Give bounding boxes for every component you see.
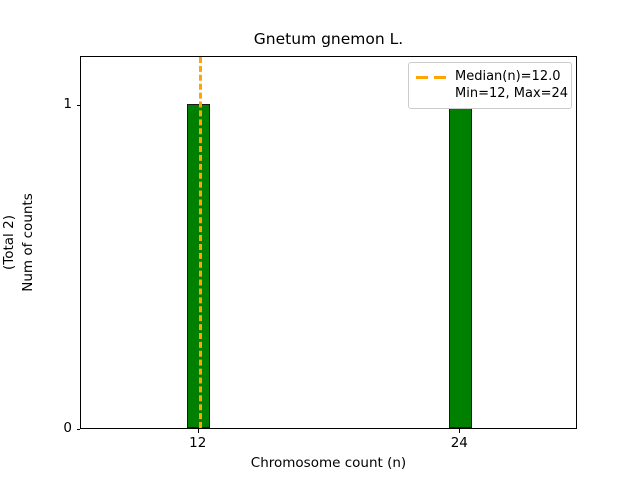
legend: Median(n)=12.0 Min=12, Max=24 — [408, 62, 572, 109]
plot-area — [80, 56, 577, 429]
bar-24 — [449, 104, 472, 428]
page-title: Gnetum gnemon L. — [80, 30, 577, 49]
x-axis-label: Chromosome count (n) — [80, 455, 577, 471]
legend-dashed-line-icon — [416, 70, 448, 86]
y-tick-label-0: 0 — [63, 422, 72, 436]
legend-label-group: Median(n)=12.0 Min=12, Max=24 — [455, 68, 568, 102]
y-axis-label: (Total 2) Num of counts — [0, 56, 46, 429]
data-layer — [81, 57, 576, 428]
y-axis-label-total: (Total 2) — [0, 215, 19, 270]
y-tick-label-1: 1 — [63, 98, 72, 112]
figure-canvas: Gnetum gnemon L. (Total 2) Num of counts… — [0, 0, 640, 480]
y-tick-mark-0 — [77, 429, 81, 430]
legend-label-minmax: Min=12, Max=24 — [455, 85, 568, 102]
legend-label-median: Median(n)=12.0 — [455, 68, 568, 85]
x-tick-mark-12 — [198, 429, 199, 433]
x-tick-mark-24 — [459, 429, 460, 433]
median-line — [199, 57, 202, 428]
x-tick-label-12: 12 — [189, 435, 206, 451]
y-axis-label-main: Num of counts — [19, 193, 38, 292]
x-tick-label-24: 24 — [451, 435, 468, 451]
